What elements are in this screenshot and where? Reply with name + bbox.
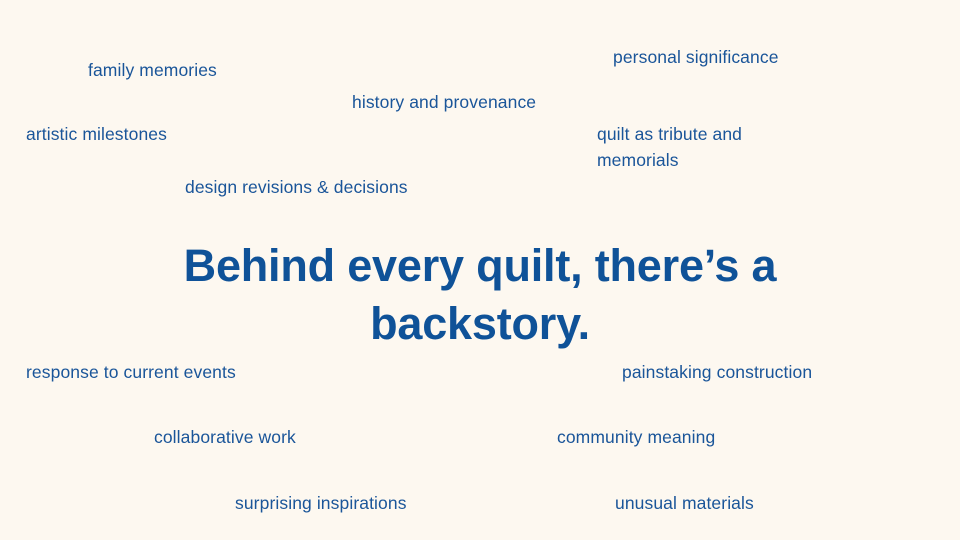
keyword-surprising-inspirations: surprising inspirations [235,490,407,516]
keyword-unusual-materials: unusual materials [615,490,754,516]
keyword-response-to-current-events: response to current events [26,359,236,385]
keyword-artistic-milestones: artistic milestones [26,121,167,147]
page-title: Behind every quilt, there’s a backstory. [0,237,960,353]
keyword-personal-significance: personal significance [613,44,779,70]
keyword-family-memories: family memories [88,57,217,83]
keyword-quilt-as-tribute-and-memorials: quilt as tribute and memorials [597,121,787,173]
keyword-design-revisions-and-decisions: design revisions & decisions [185,174,408,200]
keyword-community-meaning: community meaning [557,424,715,450]
slide-canvas: family memories personal significance hi… [0,0,960,540]
keyword-history-and-provenance: history and provenance [352,89,536,115]
keyword-collaborative-work: collaborative work [154,424,296,450]
keyword-painstaking-construction: painstaking construction [622,359,812,385]
